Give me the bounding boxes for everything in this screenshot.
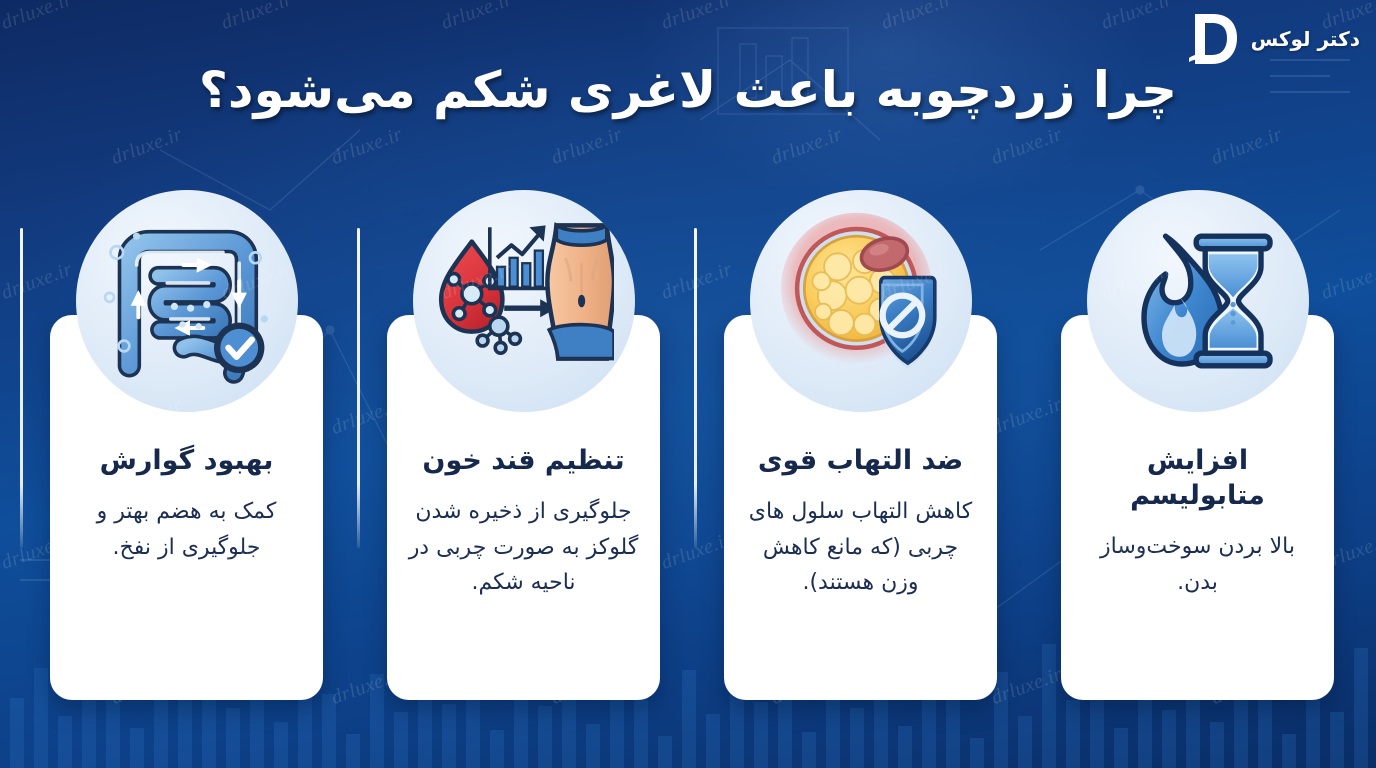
benefit-column-1: افزایش متابولیسم بالا بردن سوخت‌وساز بدن… [1061, 190, 1334, 700]
watermark-text: drluxe.ir [878, 0, 955, 35]
watermark-text: drluxe.ir [658, 0, 735, 35]
flame-hourglass-icon [1087, 190, 1309, 412]
watermark-text: drluxe.ir [108, 123, 185, 170]
card-title: افزایش متابولیسم [1079, 443, 1316, 513]
watermark-text: drluxe.ir [0, 0, 76, 35]
column-divider [694, 228, 697, 548]
watermark-text: drluxe.ir [1098, 0, 1175, 35]
card-body: بالا بردن سوخت‌وساز بدن. [1079, 529, 1316, 600]
watermark-text: drluxe.ir [218, 0, 295, 35]
brand-name: دکتر لوکس [1251, 27, 1360, 51]
watermark-text: drluxe.ir [1208, 123, 1285, 170]
infographic-canvas: دکتر لوکس چرا زردچوبه باعث لاغری شکم می‌… [0, 0, 1376, 768]
watermark-text: drluxe.ir [988, 123, 1065, 170]
benefit-column-4: بهبود گوارش کمک به هضم بهتر و جلوگیری از… [50, 190, 323, 700]
card-title: ضد التهاب قوی [742, 443, 979, 478]
card-title: بهبود گوارش [68, 443, 305, 478]
benefit-column-3: تنظیم قند خون جلوگیری از ذخیره شدن گلوکز… [387, 190, 660, 700]
benefit-column-2: ضد التهاب قوی کاهش التهاب سلول های چربی … [724, 190, 997, 700]
fat-cell-shield-icon [750, 190, 972, 412]
brand-logo: دکتر لوکس [1181, 8, 1360, 70]
column-divider [20, 228, 23, 548]
card-body: کمک به هضم بهتر و جلوگیری از نفخ. [68, 494, 305, 565]
column-divider [357, 228, 360, 548]
watermark-text: drluxe.ir [768, 123, 845, 170]
card-body: کاهش التهاب سلول های چربی (که مانع کاهش … [742, 494, 979, 601]
page-title: چرا زردچوبه باعث لاغری شکم می‌شود؟ [0, 62, 1376, 120]
watermark-text: drluxe.ir [548, 123, 625, 170]
card-title: تنظیم قند خون [405, 443, 642, 478]
blood-glucose-waist-icon [413, 190, 635, 412]
card-body: جلوگیری از ذخیره شدن گلوکز به صورت چربی … [405, 494, 642, 601]
intestine-check-icon [76, 190, 298, 412]
letter-d-logo-icon [1181, 8, 1243, 70]
watermark-text: drluxe.ir [328, 123, 405, 170]
watermark-text: drluxe.ir [438, 0, 515, 35]
benefit-card-row: افزایش متابولیسم بالا بردن سوخت‌وساز بدن… [50, 190, 1334, 700]
